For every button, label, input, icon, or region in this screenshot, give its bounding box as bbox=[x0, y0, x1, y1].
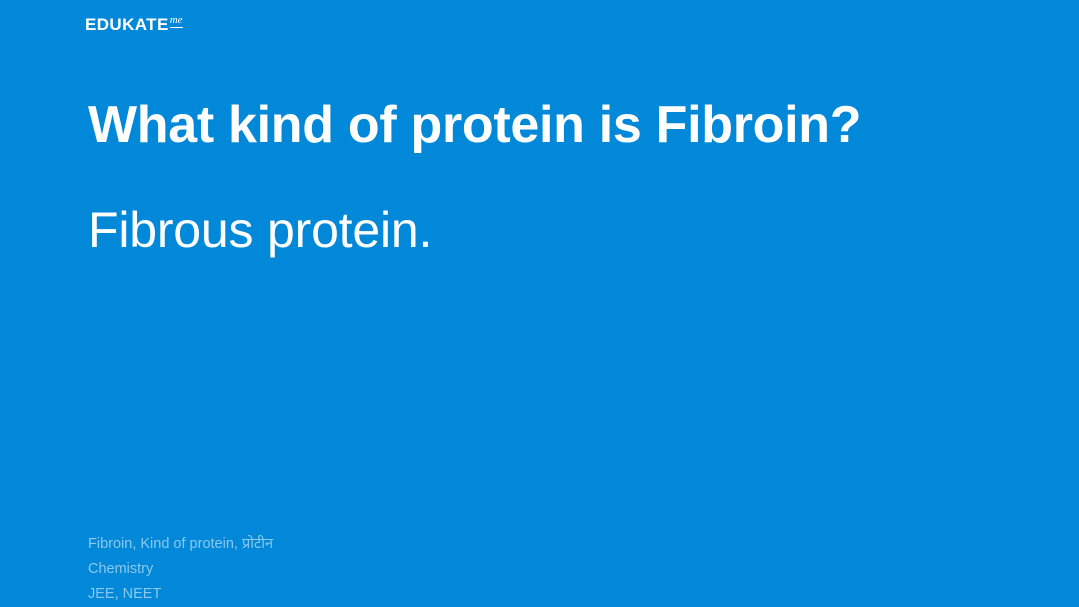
slide-footer: Fibroin, Kind of protein, प्रोटीन Chemis… bbox=[88, 532, 788, 607]
slide-content: What kind of protein is Fibroin? Fibrous… bbox=[88, 96, 1019, 258]
footer-tags: Fibroin, Kind of protein, प्रोटीन bbox=[88, 532, 788, 557]
question-text: What kind of protein is Fibroin? bbox=[88, 96, 1019, 154]
footer-exams: JEE, NEET bbox=[88, 582, 788, 607]
edukate-logo: EDUKATE me bbox=[85, 16, 183, 33]
footer-subject: Chemistry bbox=[88, 557, 788, 582]
flashcard-slide: EDUKATE me What kind of protein is Fibro… bbox=[0, 0, 1079, 607]
answer-text: Fibrous protein. bbox=[88, 154, 1019, 258]
brand-suffix: me bbox=[170, 15, 183, 28]
brand-name: EDUKATE bbox=[85, 16, 169, 33]
